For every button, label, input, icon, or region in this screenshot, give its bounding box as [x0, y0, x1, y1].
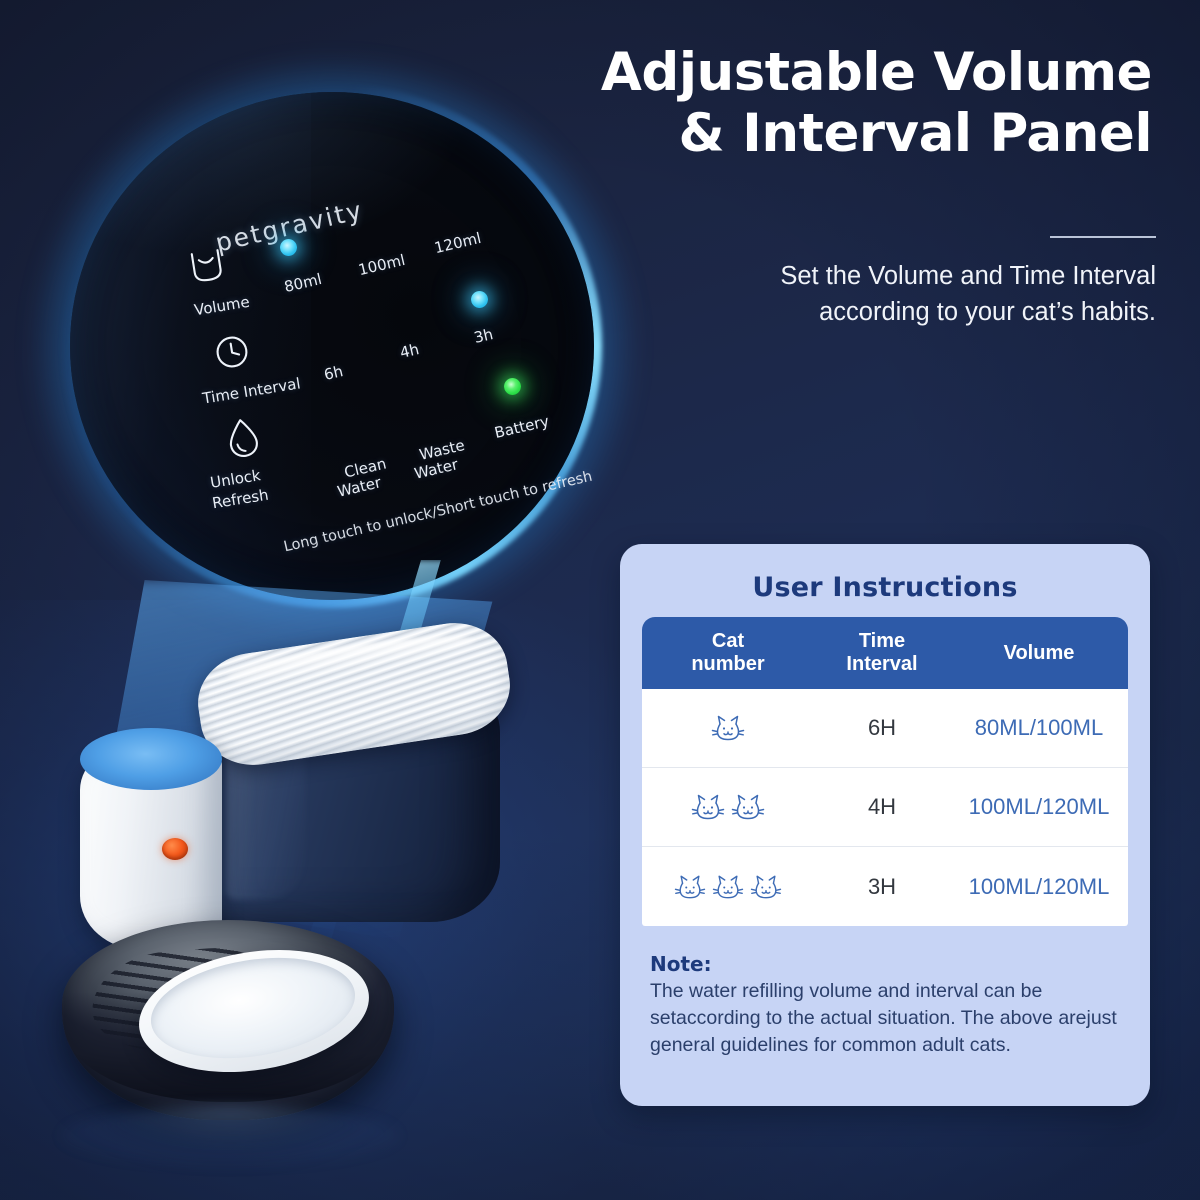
table-row: 6H 80ML/100ML	[642, 689, 1128, 768]
header-interval-line1: Time	[814, 630, 950, 653]
product-pump-top	[80, 728, 222, 790]
table-body: 6H 80ML/100ML	[642, 689, 1128, 926]
volume-value: 100ML/120ML	[950, 794, 1128, 820]
product-reflection	[60, 1106, 400, 1166]
led-volume-80ml[interactable]	[280, 239, 297, 256]
cat-icon	[711, 713, 745, 743]
clock-icon	[211, 331, 252, 372]
cat-count-cell	[642, 792, 814, 822]
card-title: User Instructions	[642, 572, 1128, 603]
panel-edge-glow	[70, 92, 594, 600]
poster-stage: petgravity Volume Time Interval Unlock R	[0, 0, 1200, 1200]
subtitle-line-1: Set the Volume and Time Interval	[596, 258, 1156, 294]
product-power-button[interactable]	[162, 838, 188, 860]
header-interval-line2: Interval	[814, 653, 950, 676]
header-cat-line2: number	[642, 653, 814, 676]
cat-icon	[750, 873, 782, 901]
headline-line-2: & Interval Panel	[512, 103, 1152, 164]
interval-value: 3H	[814, 874, 950, 900]
page-title: Adjustable Volume & Interval Panel	[512, 42, 1152, 165]
panel-surface	[70, 92, 594, 600]
interval-value: 4H	[814, 794, 950, 820]
user-instructions-card: User Instructions Cat number Time Interv…	[620, 544, 1150, 1106]
water-drop-icon	[222, 414, 264, 461]
note-label: Note:	[650, 952, 1122, 976]
header-cat-line1: Cat	[642, 630, 814, 653]
instructions-table: Cat number Time Interval Volume	[642, 617, 1128, 926]
table-header-row: Cat number Time Interval Volume	[642, 617, 1128, 689]
subtitle-line-2: according to your cat’s habits.	[596, 294, 1156, 330]
cat-count-cell	[642, 873, 814, 901]
table-header-volume: Volume	[950, 642, 1128, 665]
table-row: 4H 100ML/120ML	[642, 768, 1128, 847]
led-battery[interactable]	[504, 378, 521, 395]
interval-value: 6H	[814, 715, 950, 741]
led-interval-3h[interactable]	[471, 291, 488, 308]
cat-icon	[712, 873, 744, 901]
cat-icon	[691, 792, 725, 822]
headline-line-1: Adjustable Volume	[512, 42, 1152, 103]
volume-value: 100ML/120ML	[950, 874, 1128, 900]
title-divider	[1050, 236, 1156, 238]
table-header-time-interval: Time Interval	[814, 630, 950, 676]
volume-cup-icon	[185, 246, 228, 288]
table-header-cat-number: Cat number	[642, 630, 814, 676]
product-water-fountain	[50, 620, 520, 1160]
table-row: 3H 100ML/120ML	[642, 847, 1128, 926]
page-subtitle: Set the Volume and Time Interval accordi…	[596, 258, 1156, 330]
note-section: Note: The water refilling volume and int…	[650, 952, 1122, 1059]
volume-value: 80ML/100ML	[950, 715, 1128, 741]
cat-icon	[731, 792, 765, 822]
note-body: The water refilling volume and interval …	[650, 978, 1122, 1059]
cat-icon	[674, 873, 706, 901]
cat-count-cell	[642, 713, 814, 743]
